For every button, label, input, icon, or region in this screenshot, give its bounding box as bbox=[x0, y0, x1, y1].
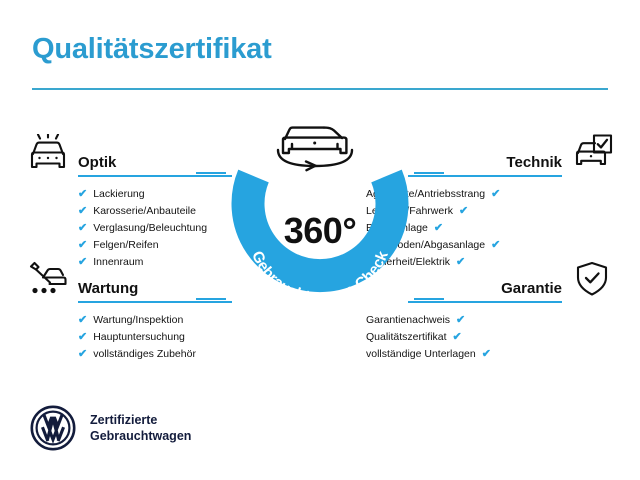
list-item: ✔Hauptuntersuchung bbox=[78, 329, 274, 346]
check-icon: ✔ bbox=[459, 203, 468, 220]
footer-line-1: Zertifizierte bbox=[90, 413, 157, 427]
list-item-label: Lackierung bbox=[93, 186, 144, 203]
footer-line-2: Gebrauchtwagen bbox=[90, 429, 191, 443]
page-title: Qualitätszertifikat bbox=[32, 33, 272, 66]
check-icon: ✔ bbox=[453, 329, 462, 346]
list-item-label: Verglasung/Beleuchtung bbox=[93, 220, 207, 237]
car-rotate-360-icon bbox=[278, 128, 352, 171]
list-item-label: Felgen/Reifen bbox=[93, 237, 158, 254]
car-shine-icon bbox=[22, 132, 74, 174]
check-icon: ✔ bbox=[78, 329, 87, 346]
check-icon: ✔ bbox=[78, 203, 87, 220]
certificate-page: Qualitätszertifikat Optik ✔Lackierung bbox=[0, 0, 640, 480]
check-icon: ✔ bbox=[434, 220, 443, 237]
check-icon: ✔ bbox=[78, 312, 87, 329]
section-wartung-title: Wartung bbox=[74, 280, 138, 300]
list-item: ✔vollständige Unterlagen bbox=[366, 346, 562, 363]
check-icon: ✔ bbox=[491, 186, 500, 203]
car-checkbox-icon bbox=[566, 132, 618, 174]
check-icon: ✔ bbox=[482, 346, 491, 363]
badge-360-gebrauchtwagen-check: Gebrauchtwagen-Check 360° bbox=[224, 118, 416, 314]
list-item-label: Qualitätszertifikat bbox=[366, 329, 447, 346]
title-divider bbox=[32, 88, 608, 90]
check-icon: ✔ bbox=[491, 237, 500, 254]
list-item-label: Hauptuntersuchung bbox=[93, 329, 185, 346]
list-item-label: Garantienachweis bbox=[366, 312, 450, 329]
list-item: ✔Qualitätszertifikat bbox=[366, 329, 562, 346]
footer-brand: Zertifizierte Gebrauchtwagen bbox=[30, 405, 191, 451]
list-item: ✔Wartung/Inspektion bbox=[78, 312, 274, 329]
footer-brand-text: Zertifizierte Gebrauchtwagen bbox=[90, 412, 191, 444]
section-optik-title: Optik bbox=[74, 154, 116, 174]
check-icon: ✔ bbox=[78, 220, 87, 237]
section-technik-title: Technik bbox=[506, 154, 566, 174]
check-icon: ✔ bbox=[78, 237, 87, 254]
list-item-label: Karosserie/Anbauteile bbox=[93, 203, 196, 220]
section-garantie-title: Garantie bbox=[501, 280, 566, 300]
shield-check-icon bbox=[566, 258, 618, 300]
list-item-label: vollständige Unterlagen bbox=[366, 346, 476, 363]
list-item-label: Wartung/Inspektion bbox=[93, 312, 183, 329]
list-item: ✔Garantienachweis bbox=[366, 312, 562, 329]
wrench-car-service-icon bbox=[22, 258, 74, 300]
list-item: ✔vollständiges Zubehör bbox=[78, 346, 274, 363]
badge-ring bbox=[248, 176, 392, 276]
check-icon: ✔ bbox=[78, 346, 87, 363]
check-icon: ✔ bbox=[78, 186, 87, 203]
check-icon: ✔ bbox=[456, 312, 465, 329]
list-item-label: vollständiges Zubehör bbox=[93, 346, 196, 363]
volkswagen-logo bbox=[30, 405, 76, 451]
